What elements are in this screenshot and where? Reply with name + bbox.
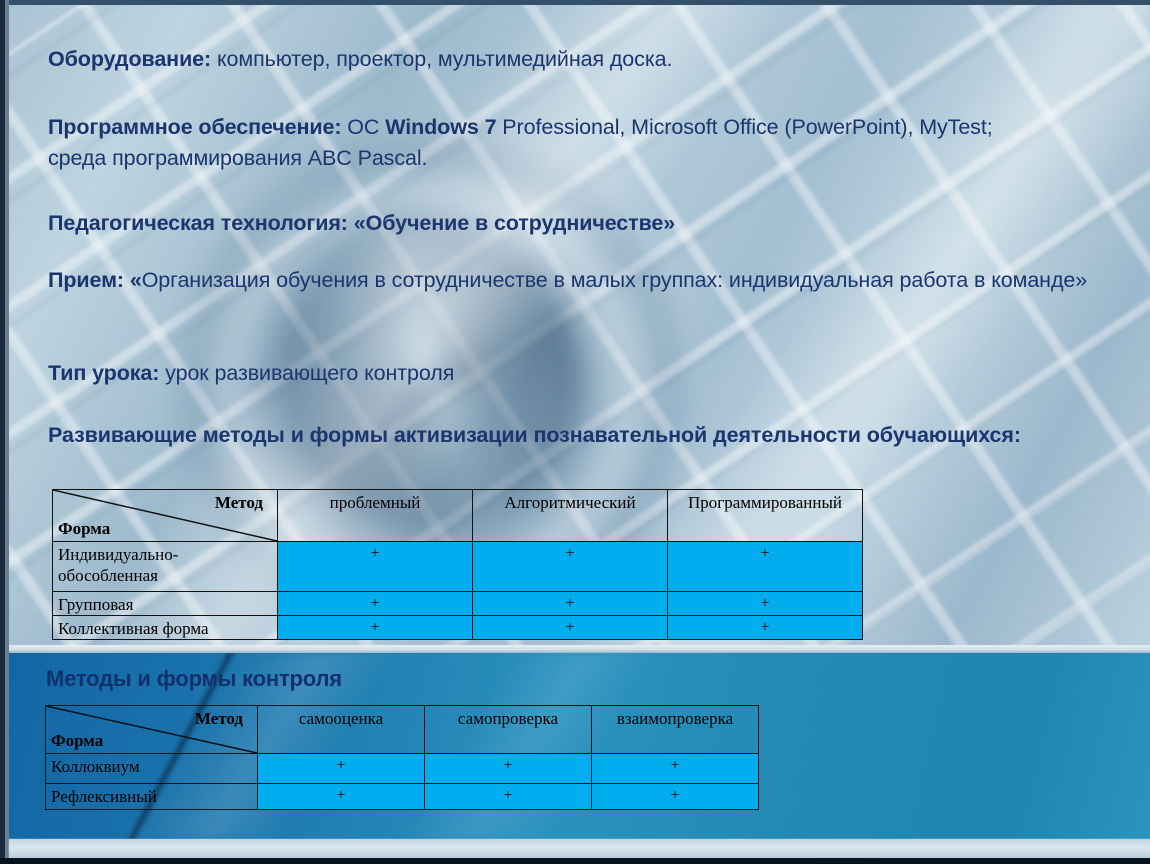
paragraph-equipment-text: компьютер, проектор, мультимедийная доск… xyxy=(211,47,672,71)
table-row: Рефлексивный + + + xyxy=(46,784,759,810)
slide-content: Оборудование: компьютер, проектор, мульт… xyxy=(0,0,1150,864)
table-row: Коллоквиум + + + xyxy=(46,754,759,784)
table2-corner-cell: Метод Форма xyxy=(46,706,258,754)
table-row: Коллективная форма + + + xyxy=(53,616,863,640)
table-row: Индивидуально-обособленная + + + xyxy=(53,542,863,592)
table2-cell-0-2: + xyxy=(592,754,759,784)
slide-frame-bottom xyxy=(0,858,1150,864)
table1-cell-1-1: + xyxy=(473,592,668,616)
paragraph-equipment: Оборудование: компьютер, проектор, мульт… xyxy=(48,44,1088,75)
control-methods-table: Метод Форма самооценка самопроверка взаи… xyxy=(45,705,759,810)
paragraph-developing-methods-heading: Развивающие методы и формы активизации п… xyxy=(48,420,1058,451)
presentation-slide: Оборудование: компьютер, проектор, мульт… xyxy=(0,0,1150,864)
paragraph-lesson-type-text: урок развивающего контроля xyxy=(159,361,454,385)
table1-cell-2-1: + xyxy=(473,616,668,640)
table1-row-header-0: Индивидуально-обособленная xyxy=(53,542,278,592)
table2-row-header-0: Коллоквиум xyxy=(46,754,258,784)
paragraph-method: Прием: «Организация обучения в сотруднич… xyxy=(48,265,1108,296)
table1-corner-cell: Метод Форма xyxy=(53,490,278,542)
table2-cell-0-0: + xyxy=(258,754,425,784)
table2-cell-1-2: + xyxy=(592,784,759,810)
table2-cell-1-1: + xyxy=(425,784,592,810)
table1-corner-form-label: Форма xyxy=(58,519,110,539)
table-header-row: Метод Форма проблемный Алгоритмический П… xyxy=(53,490,863,542)
table1-cell-0-2: + xyxy=(668,542,863,592)
table1-row-header-1: Групповая xyxy=(53,592,278,616)
table-header-row: Метод Форма самооценка самопроверка взаи… xyxy=(46,706,759,754)
paragraph-method-text: Организация обучения в сотрудничестве в … xyxy=(142,268,1087,292)
table1-row-header-2: Коллективная форма xyxy=(53,616,278,640)
table1-corner-method-label: Метод xyxy=(215,493,263,513)
paragraph-software-text: ОС xyxy=(341,115,385,139)
table1-cell-2-0: + xyxy=(278,616,473,640)
paragraph-lesson-type-label: Тип урока: xyxy=(48,361,159,385)
table2-row-header-1: Рефлексивный xyxy=(46,784,258,810)
table1-cell-2-2: + xyxy=(668,616,863,640)
paragraph-software: Программное обеспечение: ОС Windows 7 Pr… xyxy=(48,112,1048,174)
paragraph-pedagogical-technology: Педагогическая технология: «Обучение в с… xyxy=(48,208,1088,239)
table2-column-header-2: взаимопроверка xyxy=(592,706,759,754)
table2-column-header-0: самооценка xyxy=(258,706,425,754)
table1-column-header-0: проблемный xyxy=(278,490,473,542)
table2-corner-method-label: Метод xyxy=(195,709,243,729)
table2-cell-0-1: + xyxy=(425,754,592,784)
paragraph-software-label: Программное обеспечение: xyxy=(48,115,341,139)
panel-title: Методы и формы контроля xyxy=(46,666,342,692)
table2-cell-1-0: + xyxy=(258,784,425,810)
table1-cell-0-1: + xyxy=(473,542,668,592)
table1-column-header-2: Программированный xyxy=(668,490,863,542)
table1-cell-1-0: + xyxy=(278,592,473,616)
paragraph-software-windows: Windows 7 xyxy=(385,115,496,139)
panel-bottom-edge xyxy=(9,839,1150,858)
paragraph-lesson-type: Тип урока: урок развивающего контроля xyxy=(48,358,1088,389)
table2-corner-form-label: Форма xyxy=(51,731,103,751)
table2-column-header-1: самопроверка xyxy=(425,706,592,754)
table1-cell-0-0: + xyxy=(278,542,473,592)
paragraph-equipment-label: Оборудование: xyxy=(48,47,211,71)
table1-column-header-1: Алгоритмический xyxy=(473,490,668,542)
paragraph-method-label: Прием: « xyxy=(48,268,142,292)
table-row: Групповая + + + xyxy=(53,592,863,616)
table1-cell-1-2: + xyxy=(668,592,863,616)
methods-forms-table: Метод Форма проблемный Алгоритмический П… xyxy=(52,489,863,640)
